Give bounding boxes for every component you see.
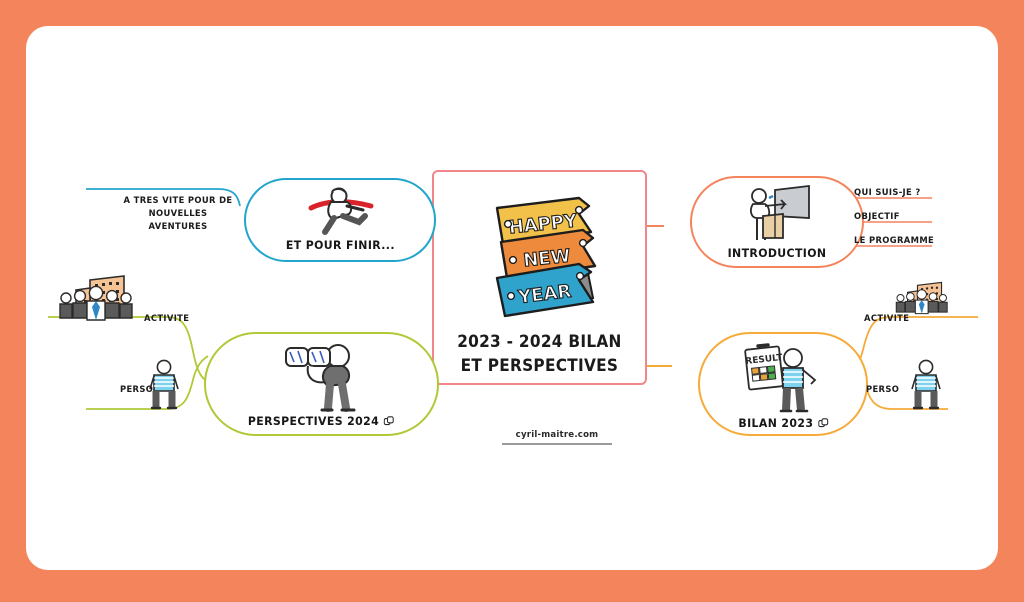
sub-item-line-1: A TRES VITE POUR DE bbox=[118, 194, 238, 207]
sub-item-a-tres-vite[interactable]: A TRES VITE POUR DE NOUVELLES AVENTURES bbox=[118, 194, 238, 233]
central-node-title: 2023 - 2024 BILAN ET PERSPECTIVES bbox=[457, 330, 621, 378]
sub-item-label: PERSO bbox=[120, 384, 153, 394]
branch-node-perspectives-2024[interactable]: PERSPECTIVES 2024 bbox=[204, 332, 439, 436]
branch-label-text: PERSPECTIVES 2024 bbox=[248, 414, 379, 428]
branch-node-bilan-2023[interactable]: RESULT BILAN 2023 bbox=[698, 332, 868, 436]
sub-item-bilan-activite[interactable]: ACTIVITE bbox=[864, 312, 909, 325]
sub-item-label: PERSO bbox=[866, 384, 899, 394]
sub-item-label: LE PROGRAMME bbox=[854, 235, 934, 245]
runner-finish-line-icon bbox=[301, 186, 379, 236]
mindmap-root: HAPPY NEW YEAR 2023 - 2024 BILAN ET PERS… bbox=[26, 26, 998, 570]
branch-label-introduction: INTRODUCTION bbox=[728, 246, 827, 260]
branch-label-text: ET POUR FINIR... bbox=[286, 238, 395, 252]
collapsed-children-icon[interactable] bbox=[384, 416, 394, 426]
sub-item-bilan-perso[interactable]: PERSO bbox=[866, 383, 899, 396]
sub-item-qui-suis-je[interactable]: QUI SUIS-JE ? bbox=[854, 186, 921, 199]
single-person-icon bbox=[908, 359, 944, 411]
sub-item-label: QUI SUIS-JE ? bbox=[854, 187, 921, 197]
sub-item-label: OBJECTIF bbox=[854, 211, 900, 221]
sub-item-label: ACTIVITE bbox=[864, 313, 909, 323]
person-result-clipboard-icon: RESULT bbox=[741, 342, 825, 414]
edge-perspectives-child-activite bbox=[48, 317, 208, 382]
collapsed-children-icon[interactable] bbox=[818, 418, 828, 428]
sub-item-perspectives-perso[interactable]: PERSO bbox=[120, 383, 153, 396]
central-title-line-2: ET PERSPECTIVES bbox=[457, 354, 621, 378]
presenter-podium-board-icon bbox=[741, 184, 813, 242]
branch-node-introduction[interactable]: INTRODUCTION bbox=[690, 176, 864, 268]
central-node[interactable]: HAPPY NEW YEAR 2023 - 2024 BILAN ET PERS… bbox=[432, 170, 647, 385]
person-binoculars-icon bbox=[272, 340, 372, 412]
central-title-line-1: 2023 - 2024 BILAN bbox=[457, 330, 621, 354]
sub-item-line-2: NOUVELLES AVENTURES bbox=[118, 207, 238, 233]
sub-item-objectif[interactable]: OBJECTIF bbox=[854, 210, 900, 223]
sub-item-perspectives-activite[interactable]: ACTIVITE bbox=[144, 312, 189, 325]
footer-credit-text: cyril-maitre.com bbox=[502, 430, 612, 440]
branch-label-text: BILAN 2023 bbox=[738, 416, 813, 430]
sub-item-label: ACTIVITE bbox=[144, 313, 189, 323]
footer-underline bbox=[502, 443, 612, 445]
sub-item-le-programme[interactable]: LE PROGRAMME bbox=[854, 234, 934, 247]
happy-new-year-banner-illustration: HAPPY NEW YEAR bbox=[467, 186, 613, 324]
mindmap-canvas: HAPPY NEW YEAR 2023 - 2024 BILAN ET PERS… bbox=[26, 26, 998, 570]
branch-label-bilan-2023: BILAN 2023 bbox=[738, 416, 828, 430]
branch-label-perspectives-2024: PERSPECTIVES 2024 bbox=[248, 414, 394, 428]
footer-credit[interactable]: cyril-maitre.com bbox=[502, 430, 612, 445]
branch-label-et-pour-finir: ET POUR FINIR... bbox=[286, 238, 395, 252]
branch-node-et-pour-finir[interactable]: ET POUR FINIR... bbox=[244, 178, 436, 262]
branch-label-text: INTRODUCTION bbox=[728, 246, 827, 260]
